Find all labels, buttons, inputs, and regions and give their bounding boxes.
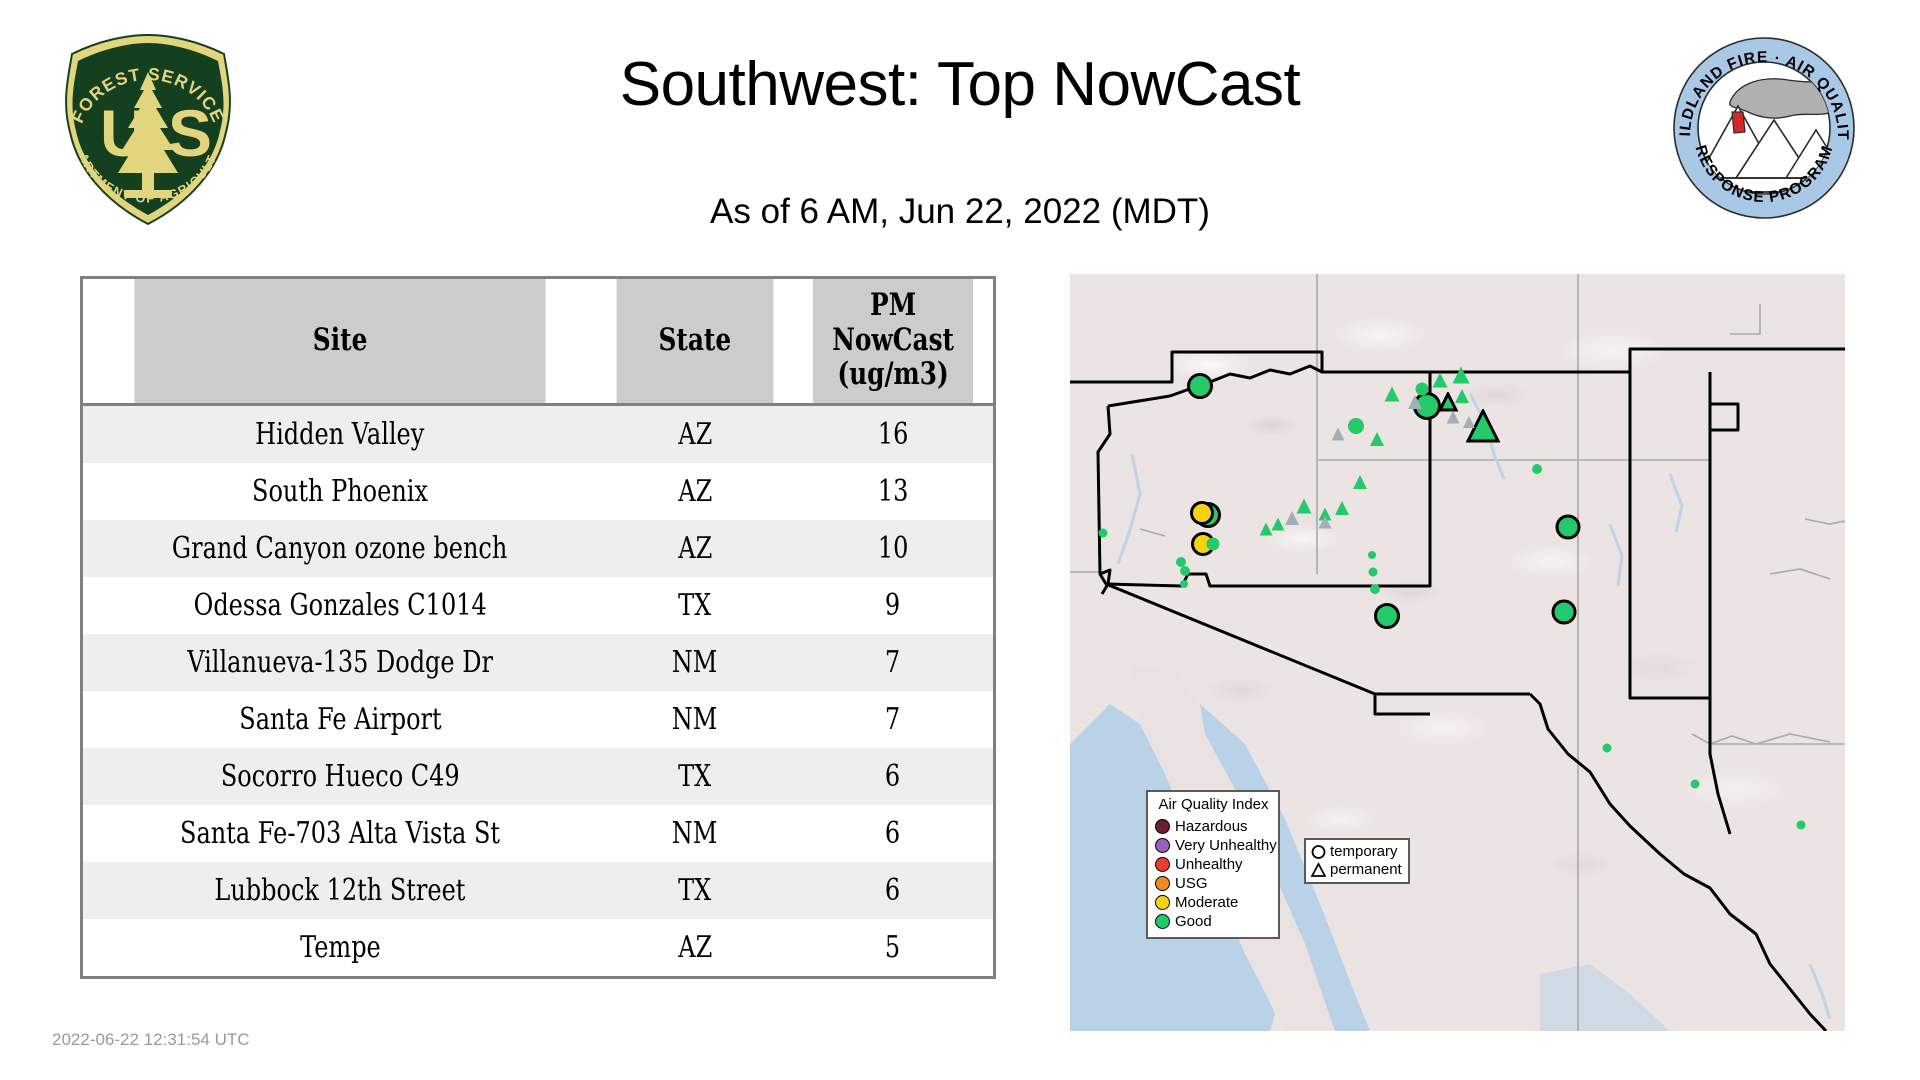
page-title: Southwest: Top NowCast xyxy=(0,52,1920,117)
cell-site: Grand Canyon ozone bench xyxy=(83,520,597,577)
map-marker-temporary-site[interactable] xyxy=(1207,538,1220,551)
table-header-row: Site State PM NowCast (ug/m3) xyxy=(83,279,993,405)
cell-pm: 6 xyxy=(793,862,993,919)
cell-state: AZ xyxy=(597,919,793,976)
map-marker-temporary-site[interactable] xyxy=(1691,780,1700,789)
cell-state-text: AZ xyxy=(678,919,712,976)
cell-site-text: Santa Fe Airport xyxy=(239,691,441,748)
aqi-legend-label: Unhealthy xyxy=(1175,855,1243,874)
map-marker-temporary-site[interactable] xyxy=(1348,418,1364,434)
cell-state-text: TX xyxy=(678,748,711,805)
aqi-legend-row: Moderate xyxy=(1155,893,1272,912)
cell-state-text: TX xyxy=(678,577,711,634)
cell-site-text: Odessa Gonzales C1014 xyxy=(194,577,487,634)
cell-state-text: NM xyxy=(672,691,718,748)
aqi-swatch-icon xyxy=(1155,857,1170,872)
table-row[interactable]: TempeAZ5 xyxy=(83,919,993,976)
aqi-legend-row: Good xyxy=(1155,912,1272,931)
aqi-legend-title: Air Quality Index xyxy=(1155,797,1272,814)
cell-state: AZ xyxy=(597,463,793,520)
cell-state: TX xyxy=(597,862,793,919)
cell-state: NM xyxy=(597,691,793,748)
aqi-legend-row: Very Unhealthy xyxy=(1155,836,1272,855)
cell-pm-text: 7 xyxy=(885,634,900,691)
table-row[interactable]: Villanueva-135 Dodge DrNM7 xyxy=(83,634,993,691)
aqi-swatch-icon xyxy=(1155,895,1170,910)
map-marker-permanent-site[interactable] xyxy=(1271,517,1285,531)
map-marker-temporary-site[interactable] xyxy=(1532,464,1542,474)
footer-timestamp: 2022-06-22 12:31:54 UTC xyxy=(52,1030,250,1050)
aqi-legend-row: Unhealthy xyxy=(1155,855,1272,874)
table-row[interactable]: Grand Canyon ozone benchAZ10 xyxy=(83,520,993,577)
map-marker-permanent-site[interactable] xyxy=(1370,432,1385,447)
column-header-pm-nowcast[interactable]: PM NowCast (ug/m3) xyxy=(813,279,973,405)
aqi-legend-items: HazardousVery UnhealthyUnhealthyUSGModer… xyxy=(1155,817,1272,931)
cell-site: Villanueva-135 Dodge Dr xyxy=(83,634,597,691)
cell-pm: 6 xyxy=(793,805,993,862)
cell-state-text: AZ xyxy=(678,520,712,577)
map-marker-temporary-site[interactable] xyxy=(1370,584,1380,594)
temporary-circle-icon xyxy=(1311,844,1326,860)
cell-pm-text: 10 xyxy=(878,520,909,577)
map-marker-temporary-site[interactable] xyxy=(1369,568,1378,577)
cell-site: Santa Fe Airport xyxy=(83,691,597,748)
map-marker-permanent-site[interactable] xyxy=(1331,427,1345,441)
cell-state: TX xyxy=(597,748,793,805)
cell-site-text: Socorro Hueco C49 xyxy=(221,748,460,805)
site-type-legend: temporary permanent xyxy=(1304,838,1410,884)
table-row[interactable]: South PhoenixAZ13 xyxy=(83,463,993,520)
aqi-swatch-icon xyxy=(1155,914,1170,929)
aqi-swatch-icon xyxy=(1155,876,1170,891)
cell-site-text: Grand Canyon ozone bench xyxy=(172,520,507,577)
cell-site: South Phoenix xyxy=(83,463,597,520)
aqi-legend-label: Very Unhealthy xyxy=(1175,836,1277,855)
table-body: Hidden ValleyAZ16South PhoenixAZ13Grand … xyxy=(83,405,993,977)
map-marker-permanent-site[interactable] xyxy=(1353,475,1368,490)
column-header-state[interactable]: State xyxy=(617,279,774,405)
cell-state-text: AZ xyxy=(678,463,712,520)
column-header-site[interactable]: Site xyxy=(134,279,545,405)
map-marker-permanent-site[interactable] xyxy=(1408,395,1423,410)
permanent-triangle-icon xyxy=(1311,862,1326,878)
cell-state: NM xyxy=(597,805,793,862)
water-gulf-mexico-inlet xyxy=(1540,964,1670,1031)
map-marker-permanent-site[interactable] xyxy=(1335,501,1350,516)
cell-site: Socorro Hueco C49 xyxy=(83,748,597,805)
aqi-legend-label: Good xyxy=(1175,912,1212,931)
cell-pm: 7 xyxy=(793,691,993,748)
aqi-legend: Air Quality Index HazardousVery Unhealth… xyxy=(1146,790,1280,939)
cell-pm: 6 xyxy=(793,748,993,805)
cell-site-text: Villanueva-135 Dodge Dr xyxy=(187,634,493,691)
cell-pm: 5 xyxy=(793,919,993,976)
map-marker-temporary-site[interactable] xyxy=(1099,529,1108,538)
table-row[interactable]: Santa Fe AirportNM7 xyxy=(83,691,993,748)
cell-site-text: South Phoenix xyxy=(252,463,428,520)
map-marker-permanent-site[interactable] xyxy=(1285,511,1300,526)
map-marker-temporary-site[interactable] xyxy=(1187,373,1213,399)
map-marker-temporary-site[interactable] xyxy=(1368,551,1376,559)
cell-pm-text: 6 xyxy=(885,748,900,805)
table-row[interactable]: Santa Fe-703 Alta Vista StNM6 xyxy=(83,805,993,862)
map-marker-temporary-site[interactable] xyxy=(1556,515,1581,540)
aqi-legend-label: USG xyxy=(1175,874,1208,893)
map-marker-temporary-site[interactable] xyxy=(1180,580,1188,588)
cell-pm-text: 16 xyxy=(878,406,909,463)
cell-state-text: NM xyxy=(672,634,718,691)
cell-state: AZ xyxy=(597,405,793,464)
map-marker-permanent-site[interactable] xyxy=(1384,386,1400,402)
cell-pm-text: 7 xyxy=(885,691,900,748)
table-row[interactable]: Odessa Gonzales C1014TX9 xyxy=(83,577,993,634)
cell-pm-text: 9 xyxy=(885,577,900,634)
cell-site: Tempe xyxy=(83,919,597,976)
aqi-legend-label: Hazardous xyxy=(1175,817,1248,836)
aqi-legend-row: USG xyxy=(1155,874,1272,893)
map-marker-temporary-site[interactable] xyxy=(1797,821,1806,830)
cell-state-text: TX xyxy=(678,862,711,919)
table-row[interactable]: Socorro Hueco C49TX6 xyxy=(83,748,993,805)
table-row[interactable]: Hidden ValleyAZ16 xyxy=(83,405,993,464)
cell-pm: 10 xyxy=(793,520,993,577)
cell-pm: 16 xyxy=(793,405,993,464)
top-nowcast-table: Site State PM NowCast (ug/m3) Hidden Val… xyxy=(80,276,996,979)
map-marker-permanent-site[interactable] xyxy=(1455,389,1470,404)
map-marker-temporary-site[interactable] xyxy=(1180,566,1190,576)
legend-label-temporary: temporary xyxy=(1330,843,1398,861)
cell-state-text: NM xyxy=(672,805,718,862)
map-marker-permanent-site[interactable] xyxy=(1463,416,1476,429)
cell-state: NM xyxy=(597,634,793,691)
aqi-legend-label: Moderate xyxy=(1175,893,1238,912)
cell-site-text: Hidden Valley xyxy=(255,406,424,463)
cell-site: Hidden Valley xyxy=(83,405,597,464)
cell-pm-text: 5 xyxy=(885,919,900,976)
cell-site: Odessa Gonzales C1014 xyxy=(83,577,597,634)
cell-state: TX xyxy=(597,577,793,634)
aqi-swatch-icon xyxy=(1155,819,1170,834)
cell-site-text: Tempe xyxy=(300,919,381,976)
map-marker-permanent-site[interactable] xyxy=(1432,372,1448,388)
cell-site: Lubbock 12th Street xyxy=(83,862,597,919)
cell-site-text: Lubbock 12th Street xyxy=(215,862,466,919)
map-marker-temporary-site[interactable] xyxy=(1374,603,1400,629)
aqi-swatch-icon xyxy=(1155,838,1170,853)
cell-site: Santa Fe-703 Alta Vista St xyxy=(83,805,597,862)
map-marker-temporary-site[interactable] xyxy=(1603,744,1612,753)
legend-row-temporary: temporary xyxy=(1311,843,1404,861)
cell-state-text: AZ xyxy=(678,406,712,463)
map-marker-temporary-site[interactable] xyxy=(1552,600,1577,625)
aqi-legend-row: Hazardous xyxy=(1155,817,1272,836)
legend-label-permanent: permanent xyxy=(1330,861,1402,879)
cell-site-text: Santa Fe-703 Alta Vista St xyxy=(180,805,500,862)
map-marker-permanent-site[interactable] xyxy=(1259,522,1273,536)
legend-row-permanent: permanent xyxy=(1311,861,1404,879)
page-subtitle: As of 6 AM, Jun 22, 2022 (MDT) xyxy=(0,192,1920,232)
map-marker-permanent-site[interactable] xyxy=(1446,410,1460,424)
cell-pm: 9 xyxy=(793,577,993,634)
cell-pm: 7 xyxy=(793,634,993,691)
cell-pm: 13 xyxy=(793,463,993,520)
map-marker-permanent-site[interactable] xyxy=(1452,366,1470,384)
cell-state: AZ xyxy=(597,520,793,577)
map-marker-temporary-site[interactable] xyxy=(1190,501,1214,525)
cell-pm-text: 6 xyxy=(885,805,900,862)
table-row[interactable]: Lubbock 12th StreetTX6 xyxy=(83,862,993,919)
cell-pm-text: 13 xyxy=(878,463,909,520)
map-marker-permanent-site[interactable] xyxy=(1318,515,1332,529)
cell-pm-text: 6 xyxy=(885,862,900,919)
